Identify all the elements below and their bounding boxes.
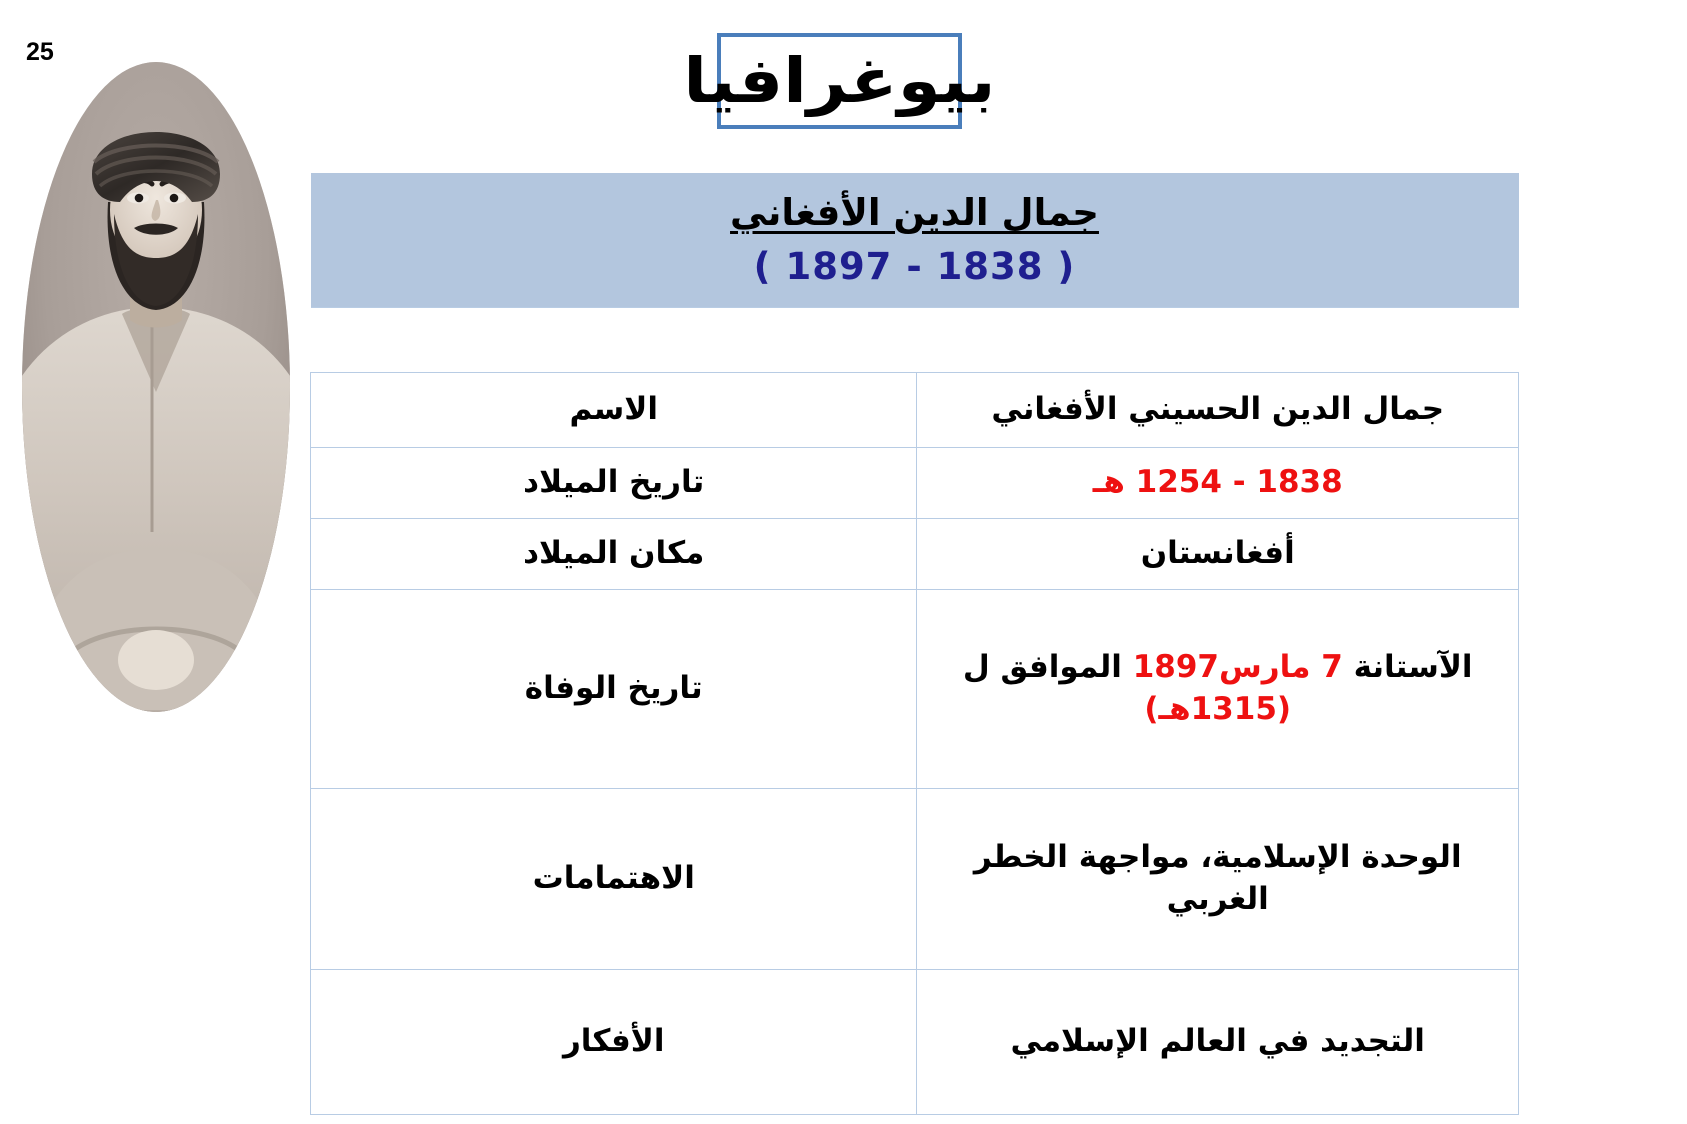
person-name: جمال الدين الأفغاني [321,188,1509,238]
table-body: جمال الدين الحسيني الأفغانيالاسم1838 - 1… [311,373,1519,1115]
table-header-row: جمال الدين الأفغاني ( 1838 - 1897 ) [311,173,1519,308]
table-cell-value: الآستانة 7 مارس1897 الموافق ل (1315هـ) [917,590,1519,789]
portrait-figure [22,62,290,712]
portrait-image [22,62,290,712]
table-cell-value: 1838 - 1254 هـ [917,448,1519,519]
page-title: بيوغرافيا [683,50,995,112]
table-cell-value: جمال الدين الحسيني الأفغاني [917,373,1519,448]
spacer-cell-label [311,308,917,373]
header-cell: جمال الدين الأفغاني ( 1838 - 1897 ) [311,173,1519,308]
table-cell-label: الاسم [311,373,917,448]
value-segment: الموافق ل [963,649,1133,685]
value-segment: أفغانستان [1141,535,1295,571]
table-cell-value: أفغانستان [917,519,1519,590]
table-row: التجديد في العالم الإسلاميالأفكار [311,970,1519,1115]
slide-number: 25 [26,38,54,67]
value-segment: جمال الدين الحسيني الأفغاني [991,391,1444,427]
table-row: أفغانستانمكان الميلاد [311,519,1519,590]
person-years: ( 1838 - 1897 ) [321,242,1509,292]
table-cell-label: تاريخ الميلاد [311,448,917,519]
value-segment: 1838 - 1254 هـ [1093,464,1343,500]
table-row: جمال الدين الحسيني الأفغانيالاسم [311,373,1519,448]
value-segment: 7 مارس1897 [1133,649,1343,685]
table-cell-value: الوحدة الإسلامية، مواجهة الخطر الغربي [917,789,1519,970]
table-cell-label: الاهتمامات [311,789,917,970]
value-segment: الوحدة الإسلامية، مواجهة الخطر الغربي [974,839,1462,917]
table-row: الآستانة 7 مارس1897 الموافق ل (1315هـ)تا… [311,590,1519,789]
value-segment: (1315هـ) [1144,691,1291,727]
value-segment: الآستانة [1343,649,1473,685]
portrait-oval-frame [22,62,290,712]
value-segment: التجديد في العالم الإسلامي [1011,1023,1425,1059]
table-row: 1838 - 1254 هـتاريخ الميلاد [311,448,1519,519]
slide-title-box: بيوغرافيا [717,33,962,129]
table-cell-value: التجديد في العالم الإسلامي [917,970,1519,1115]
table-row: الوحدة الإسلامية، مواجهة الخطر الغربيالا… [311,789,1519,970]
spacer-cell-value [917,308,1519,373]
table-cell-label: تاريخ الوفاة [311,590,917,789]
table-cell-label: الأفكار [311,970,917,1115]
table-cell-label: مكان الميلاد [311,519,917,590]
biography-table: جمال الدين الأفغاني ( 1838 - 1897 ) جمال… [310,173,1519,1115]
table-spacer-row [311,308,1519,373]
